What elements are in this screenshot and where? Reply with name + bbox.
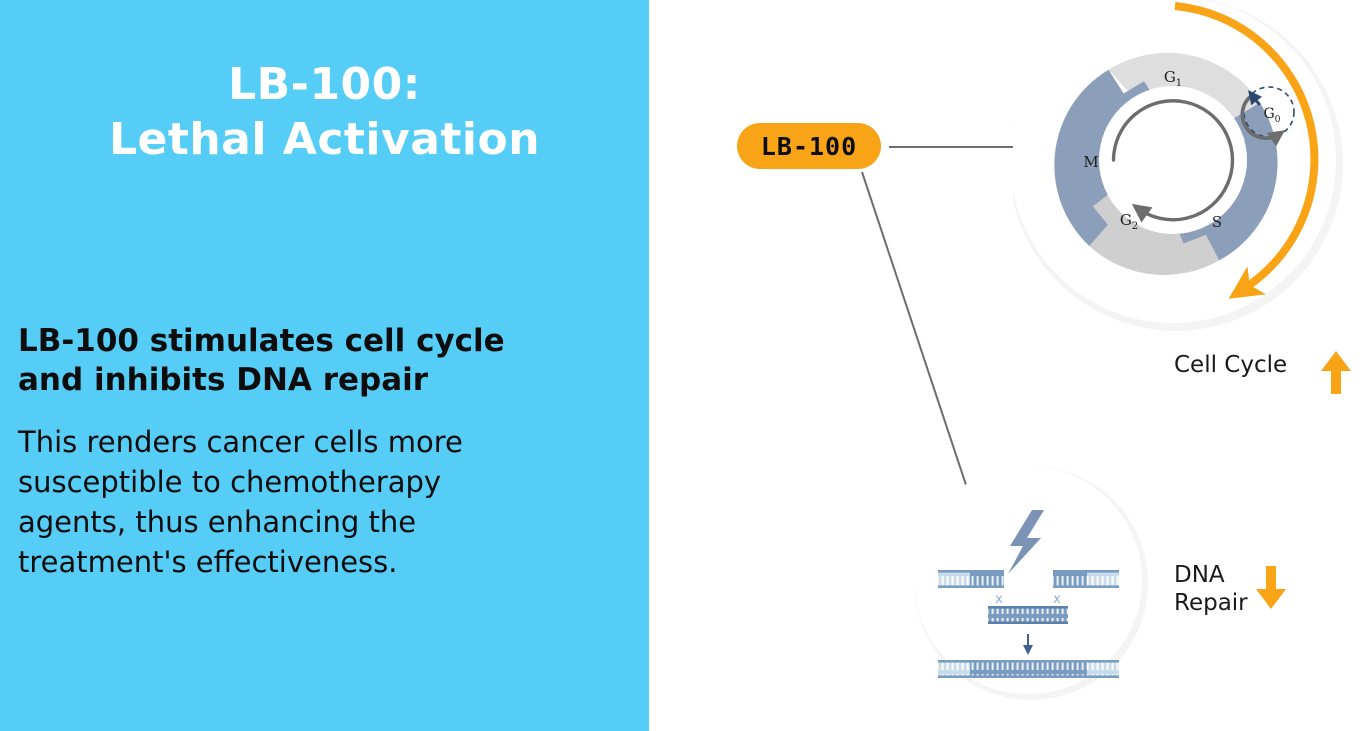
break-mark-right: x [1053, 592, 1061, 607]
cell-cycle-diagram: G1 S G2 M G0 [1013, 0, 1353, 332]
headline-text: LB-100 stimulates cell cycle and inhibit… [18, 322, 578, 400]
outcome-label-dna-repair: DNARepair [1174, 561, 1248, 617]
up-arrow-icon [1318, 347, 1354, 397]
dna-strand-repaired [938, 660, 1119, 678]
phase-label-s: S [1212, 213, 1222, 231]
body-paragraph: This renders cancer cells more susceptib… [18, 422, 558, 582]
page-title: LB-100:Lethal Activation [0, 58, 649, 167]
dna-repair-diagram: x x [910, 462, 1148, 700]
phase-label-m: M [1083, 153, 1098, 171]
dna-strand-right-broken [1053, 570, 1119, 588]
left-blue-panel: LB-100:Lethal Activation LB-100 stimulat… [0, 0, 649, 731]
slide-canvas: LB-100:Lethal Activation LB-100 stimulat… [0, 0, 1369, 731]
outcome-label-cell-cycle: Cell Cycle [1174, 351, 1287, 379]
break-mark-left: x [995, 592, 1003, 607]
down-arrow-icon [1253, 562, 1289, 612]
dna-strand-left-broken [938, 570, 1004, 588]
dna-repair-template-strand [988, 606, 1068, 624]
lb100-badge[interactable]: LB-100 [737, 123, 881, 169]
